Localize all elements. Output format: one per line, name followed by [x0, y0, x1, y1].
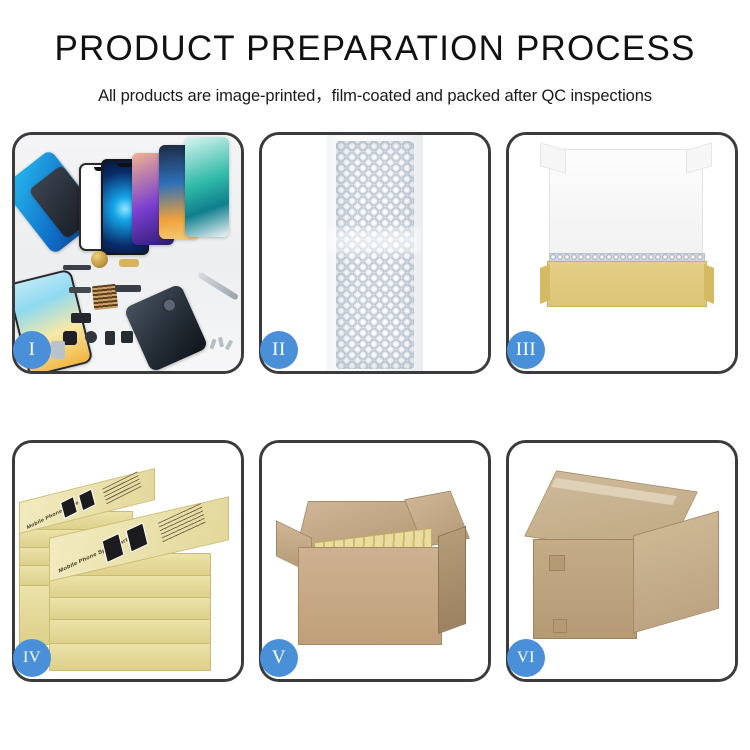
carton-front-face [298, 547, 442, 645]
step-badge-5: V [260, 639, 298, 677]
carton-right-face [438, 526, 466, 634]
panel-bubble-wrap[interactable]: II [259, 132, 491, 374]
phone-back-housing [123, 283, 208, 371]
bubble-wrap-texture [336, 141, 414, 369]
process-step-grid: I II III Mobile [0, 132, 750, 682]
camera-module-part [71, 313, 91, 323]
sim-tray-part [51, 341, 65, 359]
ribbon-cable-part [115, 285, 141, 292]
sealed-carton-front [533, 539, 637, 639]
tweezers-icon [197, 271, 239, 300]
wrap-highlight [330, 229, 420, 253]
speaker-part [85, 331, 97, 343]
panel-sealed-carton[interactable]: VI [506, 440, 738, 682]
box-stack: Mobile Phone Spare Parts Mobile Phone Sp… [19, 457, 241, 669]
panel-products-image [15, 135, 241, 371]
step-badge-6: VI [507, 639, 545, 677]
page-subtitle: All products are image-printed，film-coat… [0, 82, 750, 106]
step-badge-4: IV [13, 639, 51, 677]
vibrator-motor-part [91, 251, 108, 268]
carton-hand-hole-upper [549, 555, 565, 571]
sensor-part [121, 331, 133, 343]
panel-inner-box[interactable]: III [506, 132, 738, 374]
panel-open-carton[interactable]: V [259, 440, 491, 682]
panel-stacked-boxes-image: Mobile Phone Spare Parts Mobile Phone Sp… [15, 443, 241, 679]
carton-hand-hole-lower [553, 619, 567, 633]
panel-inner-box-image [509, 135, 735, 371]
ic-chip-part [63, 331, 77, 345]
panel-products[interactable]: I [12, 132, 244, 374]
step-badge-3: III [507, 331, 545, 369]
yellow-inner-box-tray [547, 261, 707, 307]
panel-open-carton-image [262, 443, 488, 679]
page-title: PRODUCT PREPARATION PROCESS [0, 30, 750, 69]
flex-cable-part [63, 265, 91, 270]
panel-sealed-carton-image [509, 443, 735, 679]
step-badge-1: I [13, 331, 51, 369]
page-header: PRODUCT PREPARATION PROCESS All products… [0, 0, 750, 106]
panel-bubble-wrap-image [262, 135, 488, 371]
button-part [105, 331, 115, 345]
antenna-part [69, 287, 91, 293]
screws-part [211, 337, 235, 351]
step-badge-2: II [260, 331, 298, 369]
panel-stacked-boxes[interactable]: Mobile Phone Spare Parts Mobile Phone Sp… [12, 440, 244, 682]
gold-connector-part [119, 259, 139, 267]
phone-screen-teal [185, 137, 229, 237]
